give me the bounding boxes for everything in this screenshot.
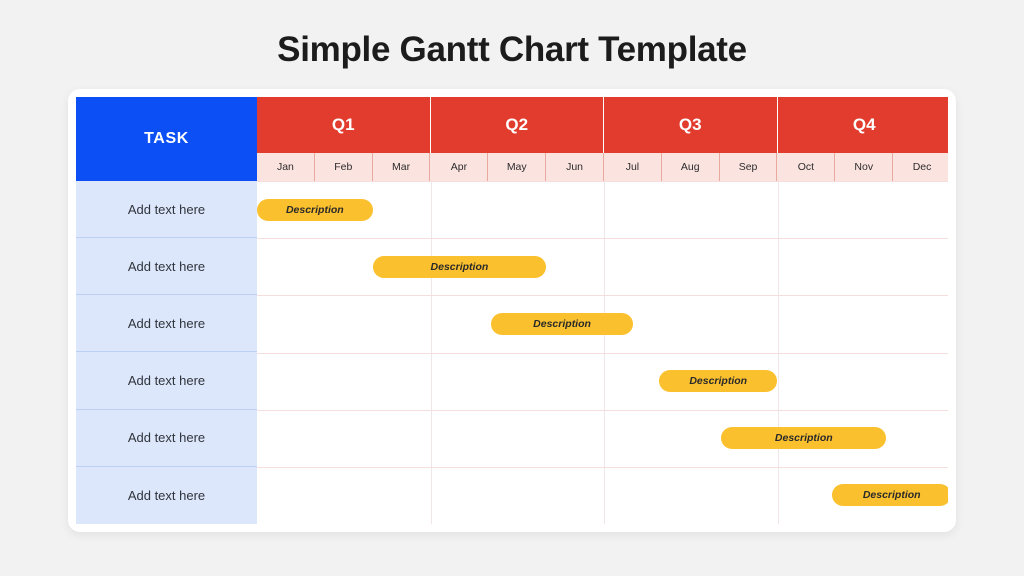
quarter-header-q2: Q2 [431,97,605,153]
gantt-grid: TASK Q1Q2Q3Q4 JanFebMarAprMayJunJulAugSe… [76,97,948,524]
task-column-header: TASK [76,97,257,181]
quarter-header-q3: Q3 [604,97,778,153]
month-header-jan: Jan [257,153,315,181]
gantt-bar[interactable]: Description [721,427,886,449]
row-divider [257,353,948,354]
task-label-cell[interactable]: Add text here [76,467,257,524]
month-header-oct: Oct [778,153,836,181]
month-header-may: May [488,153,546,181]
timeline-lanes: DescriptionDescriptionDescriptionDescrip… [257,181,948,524]
month-header-row: JanFebMarAprMayJunJulAugSepOctNovDec [257,153,948,181]
task-label-cell[interactable]: Add text here [76,181,257,238]
gantt-bar[interactable]: Description [373,256,547,278]
gantt-chart-page: Simple Gantt Chart Template TASK Q1Q2Q3Q… [0,0,1024,576]
month-header-nov: Nov [835,153,893,181]
task-label-cell[interactable]: Add text here [76,410,257,467]
month-header-feb: Feb [315,153,373,181]
quarter-header-q1: Q1 [257,97,431,153]
gantt-bar[interactable]: Description [832,484,948,506]
month-header-jul: Jul [604,153,662,181]
gantt-bar[interactable]: Description [257,199,373,221]
task-column: Add text hereAdd text hereAdd text hereA… [76,181,257,524]
row-divider [257,238,948,239]
row-divider [257,410,948,411]
month-header-mar: Mar [373,153,431,181]
gantt-bar[interactable]: Description [659,370,778,392]
quarter-header-q4: Q4 [778,97,949,153]
row-divider [257,467,948,468]
gantt-card: TASK Q1Q2Q3Q4 JanFebMarAprMayJunJulAugSe… [68,89,956,532]
row-divider [257,295,948,296]
page-title: Simple Gantt Chart Template [0,30,1024,70]
task-label-cell[interactable]: Add text here [76,353,257,410]
month-header-jun: Jun [546,153,604,181]
row-divider [257,181,948,182]
gantt-body: Add text hereAdd text hereAdd text hereA… [76,181,948,524]
month-header-dec: Dec [893,153,948,181]
month-header-apr: Apr [431,153,489,181]
month-header-sep: Sep [720,153,778,181]
gantt-bar[interactable]: Description [491,313,633,335]
month-header-aug: Aug [662,153,720,181]
task-label-cell[interactable]: Add text here [76,295,257,352]
quarter-header-row: Q1Q2Q3Q4 [257,97,948,153]
task-label-cell[interactable]: Add text here [76,238,257,295]
